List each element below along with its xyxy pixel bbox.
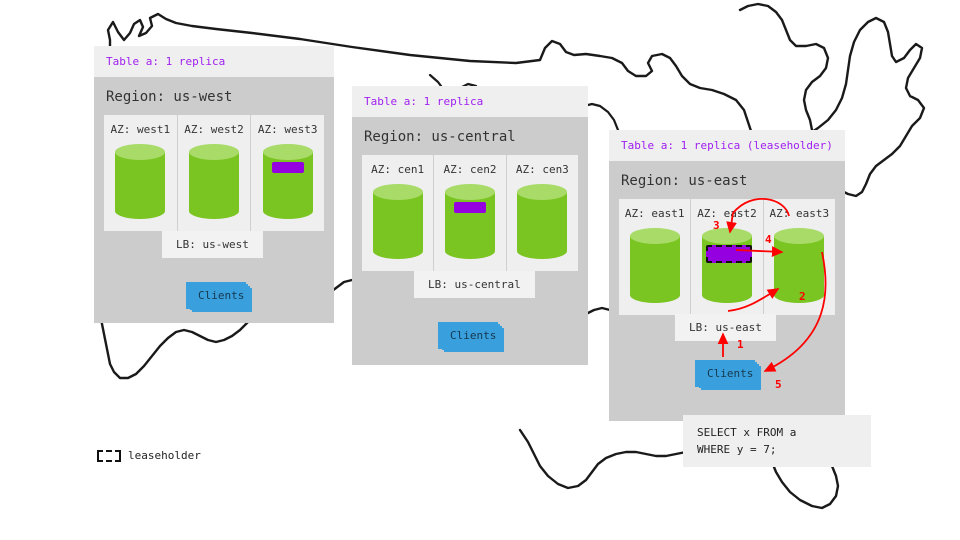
az-cell-west2[interactable]: AZ: west2: [178, 115, 252, 231]
node-cylinder-east1[interactable]: [630, 228, 680, 303]
cylinder-top: [774, 228, 824, 244]
load-balancer-us-west[interactable]: LB: us-west: [162, 231, 263, 258]
cylinder-top: [115, 144, 165, 160]
region-panel-us-east: Table a: 1 replica (leaseholder) Region:…: [609, 130, 845, 421]
region-panel-us-west: Table a: 1 replica Region: us-west AZ: w…: [94, 46, 334, 323]
region-title: Region: us-central: [362, 117, 578, 155]
region-title: Region: us-east: [619, 161, 835, 199]
diagram-canvas: Table a: 1 replica Region: us-west AZ: w…: [0, 0, 960, 540]
region-panel-us-central: Table a: 1 replica Region: us-central AZ…: [352, 86, 588, 365]
clients-stack-us-west[interactable]: Clients: [186, 282, 252, 312]
cylinder-body: [189, 152, 239, 211]
clients-label[interactable]: Clients: [438, 322, 498, 349]
cylinder-body: [445, 192, 495, 251]
cylinder-top: [630, 228, 680, 244]
cylinder-top: [189, 144, 239, 160]
az-label: AZ: west2: [184, 123, 244, 136]
leaseholder-marker-east2[interactable]: [706, 245, 752, 263]
dashed-box-icon: [97, 450, 121, 462]
az-label: AZ: east1: [625, 207, 685, 220]
cylinder-top: [702, 228, 752, 244]
az-cell-west3[interactable]: AZ: west3: [251, 115, 324, 231]
az-label: AZ: east3: [770, 207, 830, 220]
legend-label: leaseholder: [128, 449, 201, 462]
flow-label-4: 4: [765, 233, 772, 246]
flow-label-3: 3: [713, 219, 720, 232]
load-balancer-us-central[interactable]: LB: us-central: [414, 271, 535, 298]
az-label: AZ: west1: [111, 123, 171, 136]
node-cylinder-west3[interactable]: [263, 144, 313, 219]
region-title: Region: us-west: [104, 77, 324, 115]
az-row: AZ: cen1 AZ: cen2: [362, 155, 578, 271]
region-header-label: Table a: 1 replica: [352, 86, 588, 117]
az-cell-cen2[interactable]: AZ: cen2: [434, 155, 506, 271]
node-cylinder-cen2[interactable]: [445, 184, 495, 259]
az-cell-cen3[interactable]: AZ: cen3: [507, 155, 578, 271]
az-label: AZ: east2: [697, 207, 757, 220]
az-row: AZ: west1 AZ: west2 AZ: [104, 115, 324, 231]
cylinder-top: [517, 184, 567, 200]
az-cell-cen1[interactable]: AZ: cen1: [362, 155, 434, 271]
az-label: AZ: cen2: [444, 163, 497, 176]
cylinder-top: [263, 144, 313, 160]
cylinder-body: [630, 236, 680, 295]
region-header-label: Table a: 1 replica (leaseholder): [609, 130, 845, 161]
cylinder-top: [373, 184, 423, 200]
node-cylinder-east2[interactable]: [702, 228, 752, 303]
replica-marker-cen2[interactable]: [454, 202, 486, 213]
az-cell-east2[interactable]: AZ: east2: [691, 199, 763, 315]
cylinder-body: [373, 192, 423, 251]
cylinder-body: [774, 236, 824, 295]
flow-label-5: 5: [775, 378, 782, 391]
az-label: AZ: cen3: [516, 163, 569, 176]
replica-marker-west3[interactable]: [272, 162, 304, 173]
node-cylinder-west1[interactable]: [115, 144, 165, 219]
clients-label[interactable]: Clients: [186, 282, 246, 309]
cylinder-top: [445, 184, 495, 200]
node-cylinder-cen3[interactable]: [517, 184, 567, 259]
az-label: AZ: cen1: [371, 163, 424, 176]
clients-label[interactable]: Clients: [695, 360, 755, 387]
flow-label-2: 2: [799, 290, 806, 303]
az-cell-east1[interactable]: AZ: east1: [619, 199, 691, 315]
cylinder-body: [263, 152, 313, 211]
node-cylinder-west2[interactable]: [189, 144, 239, 219]
cylinder-body: [517, 192, 567, 251]
clients-stack-us-central[interactable]: Clients: [438, 322, 504, 352]
cylinder-body: [115, 152, 165, 211]
clients-stack-us-east[interactable]: Clients: [695, 360, 761, 390]
legend: leaseholder: [97, 449, 201, 462]
region-header-label: Table a: 1 replica: [94, 46, 334, 77]
flow-label-1: 1: [737, 338, 744, 351]
sql-query-box: SELECT x FROM a WHERE y = 7;: [683, 415, 871, 467]
node-cylinder-cen1[interactable]: [373, 184, 423, 259]
az-label: AZ: west3: [258, 123, 318, 136]
load-balancer-us-east[interactable]: LB: us-east: [675, 314, 776, 341]
az-cell-west1[interactable]: AZ: west1: [104, 115, 178, 231]
